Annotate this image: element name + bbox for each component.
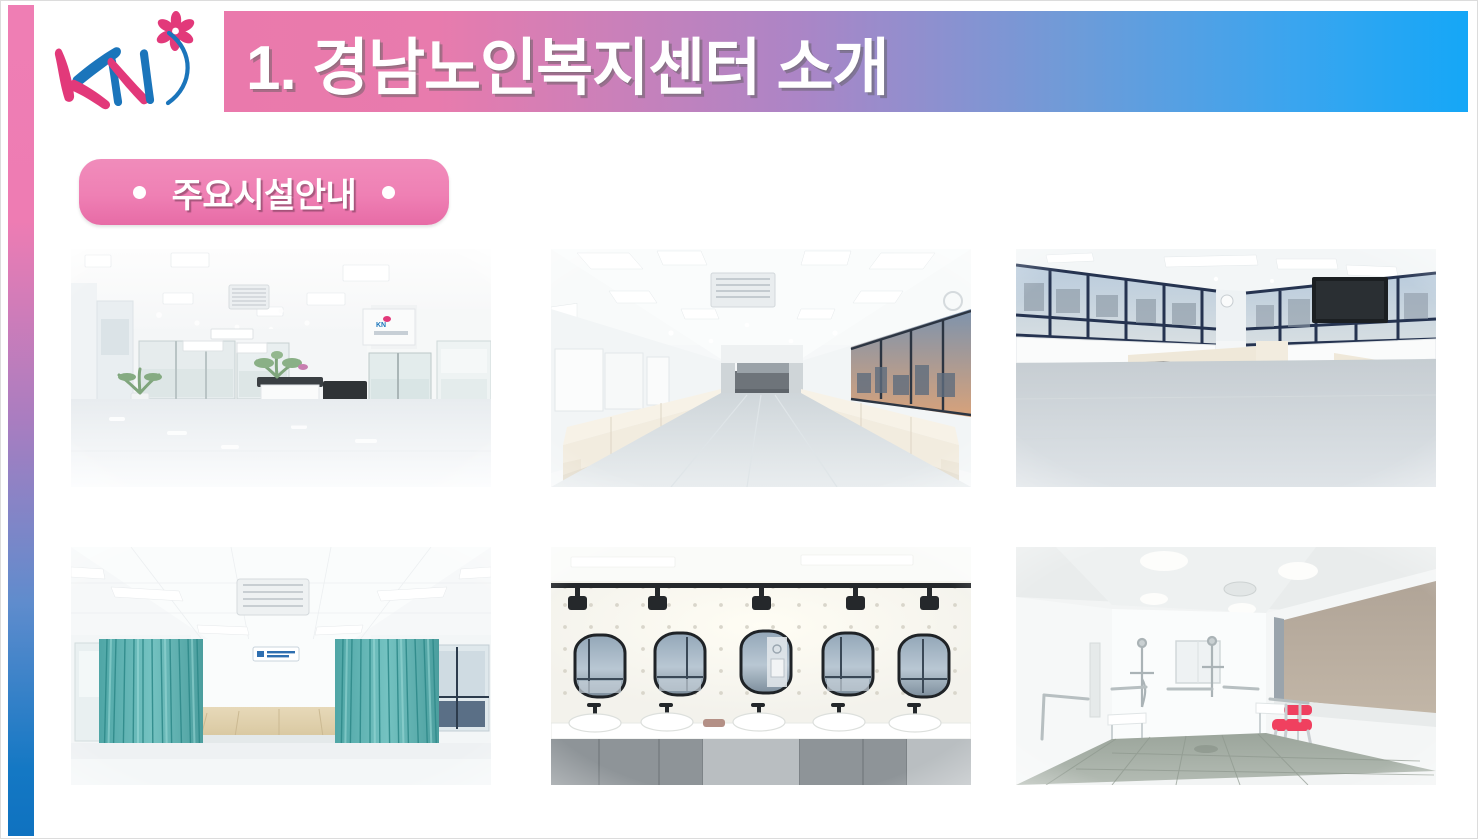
section-badge-label: 주요시설안내 <box>172 168 357 217</box>
svg-text:KN: KN <box>376 322 386 329</box>
bullet-dot-left-icon <box>133 186 146 199</box>
bullet-dot-right-icon <box>382 186 395 199</box>
header-bar: 1. 경남노인복지센터 소개 <box>224 11 1468 112</box>
flower-icon <box>155 11 197 51</box>
photo-main-lounge <box>1016 249 1436 487</box>
kn-logo <box>44 9 219 113</box>
photo-lobby-reception: KN <box>71 249 491 487</box>
section-badge: 주요시설안내 <box>79 159 449 225</box>
left-accent-bar <box>8 5 34 836</box>
photo-corridor-lounge <box>551 249 971 487</box>
facility-photo-grid: KN <box>59 249 1439 797</box>
photo-rest-room <box>71 547 491 785</box>
slide-root: 1. 경남노인복지센터 소개 <box>0 0 1478 839</box>
page-title: 1. 경남노인복지센터 소개 <box>246 17 889 107</box>
photo-washroom <box>551 547 971 785</box>
photo-shower-room <box>1016 547 1436 785</box>
